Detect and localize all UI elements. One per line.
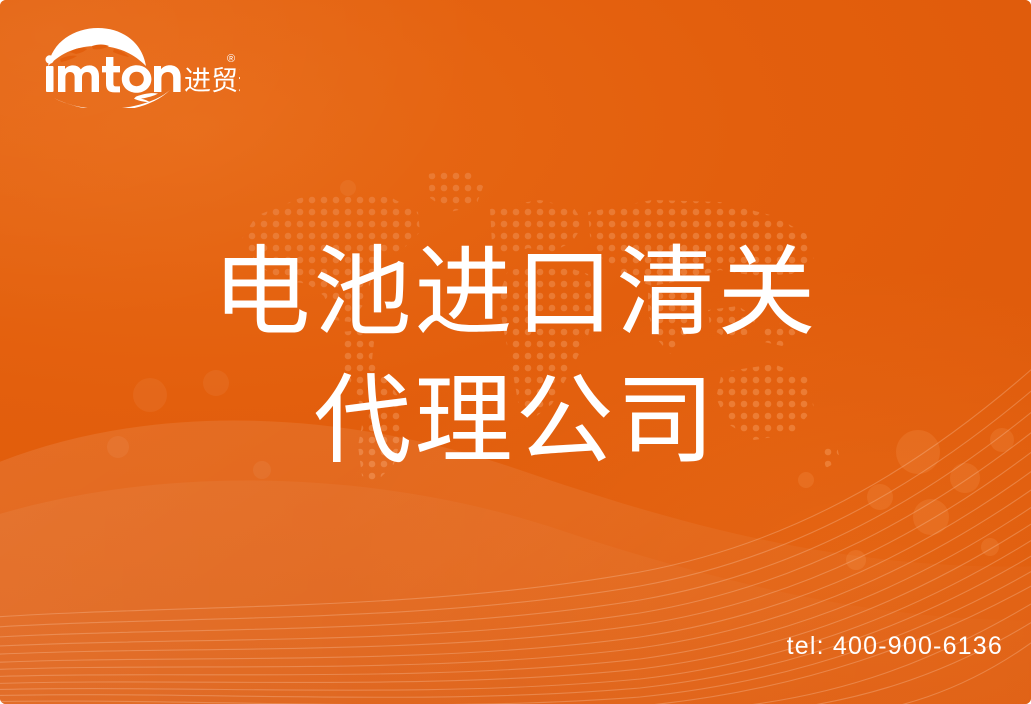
contact-phone[interactable]: tel: 400-900-6136: [787, 632, 1003, 661]
promo-banner: 进贸通 ® 电池进口清关 代理公司 tel: 400-900-6136: [0, 0, 1031, 704]
globe-arc-icon: [48, 28, 146, 66]
brand-logo[interactable]: 进贸通 ®: [40, 26, 240, 108]
brand-latin-wordmark: [46, 55, 181, 93]
plane-swoosh-icon: [54, 90, 170, 108]
brand-chinese-label: 进贸通: [184, 66, 240, 96]
trademark-symbol: ®: [227, 53, 235, 65]
headline: 电池进口清关 代理公司: [0, 228, 1031, 484]
headline-line-1: 电池进口清关: [0, 228, 1031, 356]
headline-line-2: 代理公司: [0, 356, 1031, 484]
